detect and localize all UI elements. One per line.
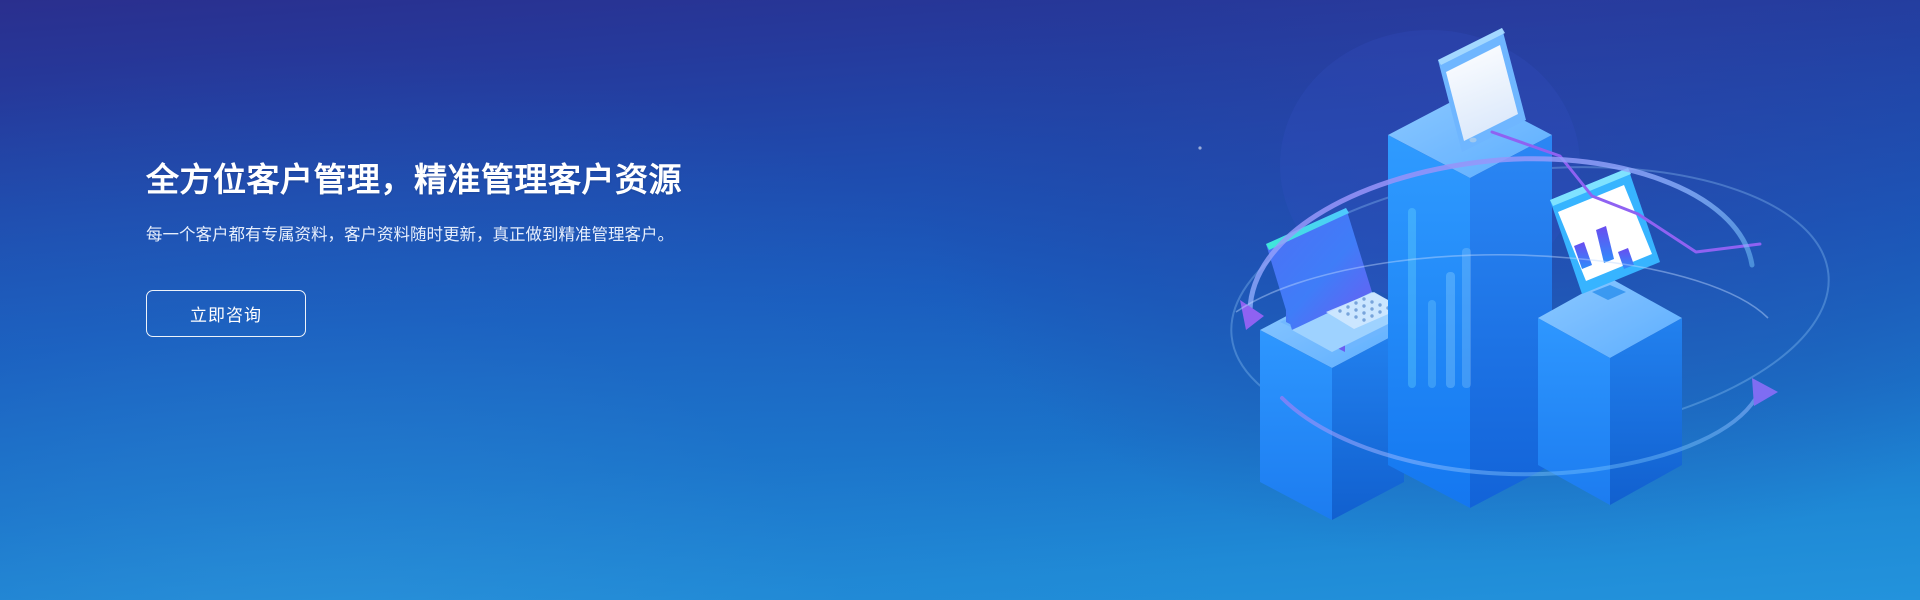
bar-right	[1538, 278, 1682, 505]
hero-copy: 全方位客户管理，精准管理客户资源 每一个客户都有专属资料，客户资料随时更新，真正…	[146, 160, 846, 337]
consult-now-button[interactable]: 立即咨询	[146, 290, 306, 337]
hero-subtitle: 每一个客户都有专属资料，客户资料随时更新，真正做到精准管理客户。	[146, 222, 738, 249]
sparkle-dot	[1198, 146, 1201, 149]
orbit-arrow-right	[1752, 378, 1778, 406]
bar-center	[1388, 92, 1552, 508]
page-title: 全方位客户管理，精准管理客户资源	[146, 160, 846, 200]
hero-illustration	[1140, 0, 1920, 600]
hero-banner: 全方位客户管理，精准管理客户资源 每一个客户都有专属资料，客户资料随时更新，真正…	[0, 0, 1920, 600]
